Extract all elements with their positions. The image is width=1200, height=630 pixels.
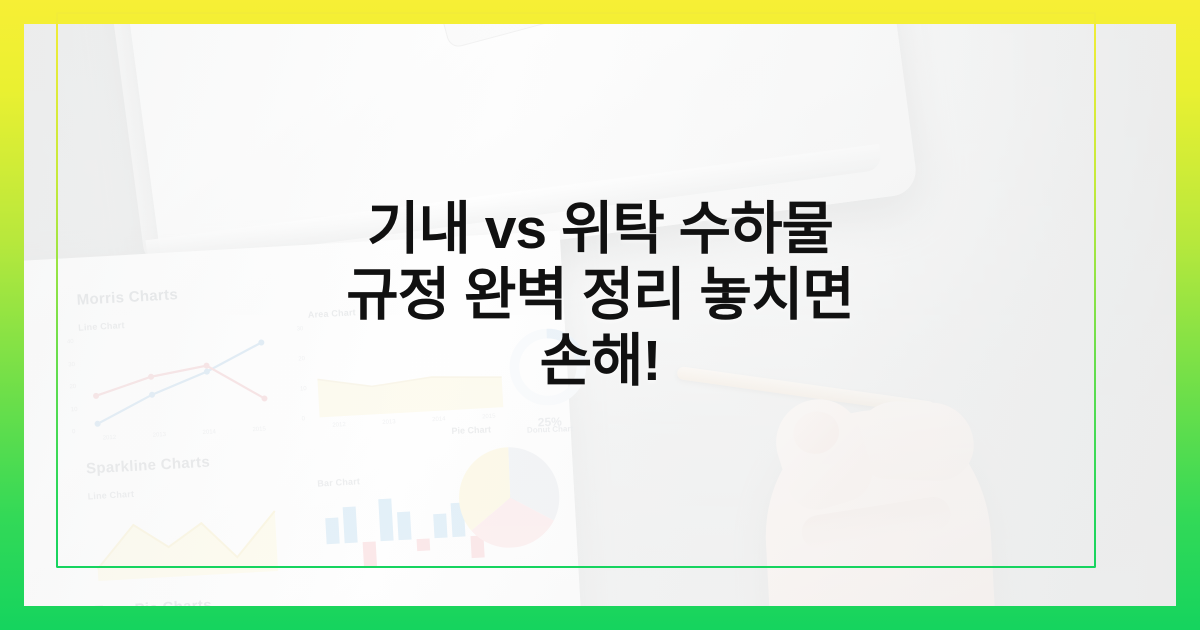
paper-section-title-easypie: Easy Pie Charts xyxy=(94,578,554,606)
pie-chart-card: Pie Chart xyxy=(451,418,646,561)
thumb-nail xyxy=(788,406,844,460)
social-card: Morris Charts Line Chart 40 30 20 10 0 xyxy=(0,0,1200,630)
hand-holding-pen xyxy=(759,404,997,606)
sparkline-line-plot xyxy=(88,496,292,585)
headline-line-2: 규정 완벽 정리 놓치면 xyxy=(90,262,1110,328)
page-title: 기내 vs 위탁 수하물 규정 완벽 정리 놓치면 손해! xyxy=(0,196,1200,394)
headline-line-3: 손해! xyxy=(90,328,1110,394)
sparkline-line-svg xyxy=(88,496,292,585)
pie-chart-svg xyxy=(452,439,569,556)
sparkline-line-chart: Line Chart xyxy=(87,480,292,585)
headline-line-1: 기내 vs 위탁 수하물 xyxy=(90,196,1110,262)
trackpad xyxy=(399,24,740,49)
